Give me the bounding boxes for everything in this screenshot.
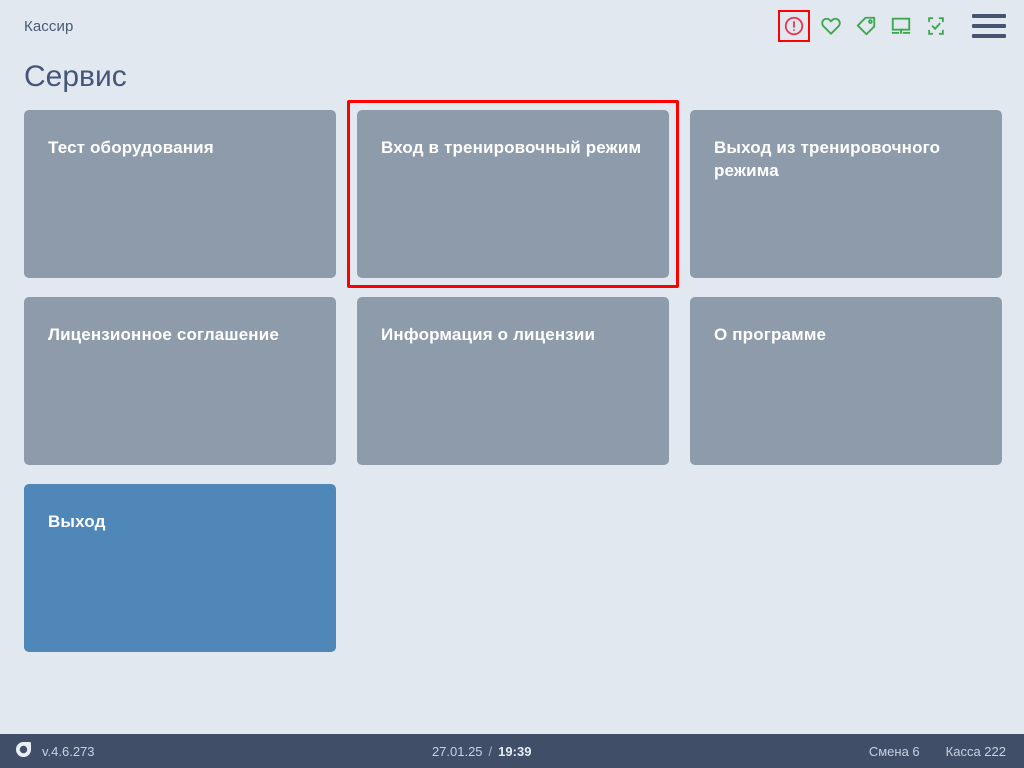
- status-bar-right: Смена 6 Касса 222: [869, 744, 1006, 759]
- tile-label: Лицензионное соглашение: [48, 323, 314, 346]
- header-title: Кассир: [24, 18, 73, 35]
- app-header: Кассир: [0, 0, 1024, 52]
- menu-icon-bar: [972, 14, 1006, 18]
- tile-exit[interactable]: Выход: [24, 484, 336, 652]
- tile-exit-training-mode[interactable]: Выход из тренировочного режима: [690, 110, 1002, 278]
- shift-label: Смена 6: [869, 744, 920, 759]
- tile-equipment-test[interactable]: Тест оборудования: [24, 110, 336, 278]
- status-bar-datetime: 27.01.25 / 19:39: [95, 744, 869, 759]
- tile-label: Информация о лицензии: [381, 323, 647, 346]
- heart-icon[interactable]: [817, 12, 845, 40]
- tile-license-agreement[interactable]: Лицензионное соглашение: [24, 297, 336, 465]
- current-time: 19:39: [498, 744, 531, 759]
- app-logo-icon: [14, 740, 33, 762]
- status-icon-bar: [778, 10, 950, 42]
- status-bar: v.4.6.273 27.01.25 / 19:39 Смена 6 Касса…: [0, 734, 1024, 768]
- tile-label: О программе: [714, 323, 980, 346]
- register-label: Касса 222: [946, 744, 1006, 759]
- tile-label: Выход из тренировочного режима: [714, 136, 980, 183]
- datetime-separator: /: [489, 744, 493, 759]
- tile-label: Тест оборудования: [48, 136, 314, 159]
- service-tile-grid: Тест оборудования Вход в тренировочный р…: [24, 110, 1000, 652]
- tile-license-info[interactable]: Информация о лицензии: [357, 297, 669, 465]
- app-version: v.4.6.273: [42, 744, 95, 759]
- menu-icon-bar: [972, 34, 1006, 38]
- current-date: 27.01.25: [432, 744, 483, 759]
- monitor-icon[interactable]: [887, 12, 915, 40]
- tile-enter-training-mode[interactable]: Вход в тренировочный режим: [357, 110, 669, 278]
- alert-circle-icon[interactable]: [778, 10, 810, 42]
- page-title: Сервис: [0, 52, 1024, 110]
- tag-icon[interactable]: [852, 12, 880, 40]
- tile-about-program[interactable]: О программе: [690, 297, 1002, 465]
- menu-icon[interactable]: [972, 11, 1006, 41]
- check-square-icon[interactable]: [922, 12, 950, 40]
- menu-icon-bar: [972, 24, 1006, 28]
- status-bar-left: v.4.6.273: [14, 740, 95, 762]
- app-root: Кассир: [0, 0, 1024, 768]
- tile-label: Вход в тренировочный режим: [381, 136, 647, 159]
- main-content: Тест оборудования Вход в тренировочный р…: [0, 110, 1024, 734]
- tile-label: Выход: [48, 510, 314, 533]
